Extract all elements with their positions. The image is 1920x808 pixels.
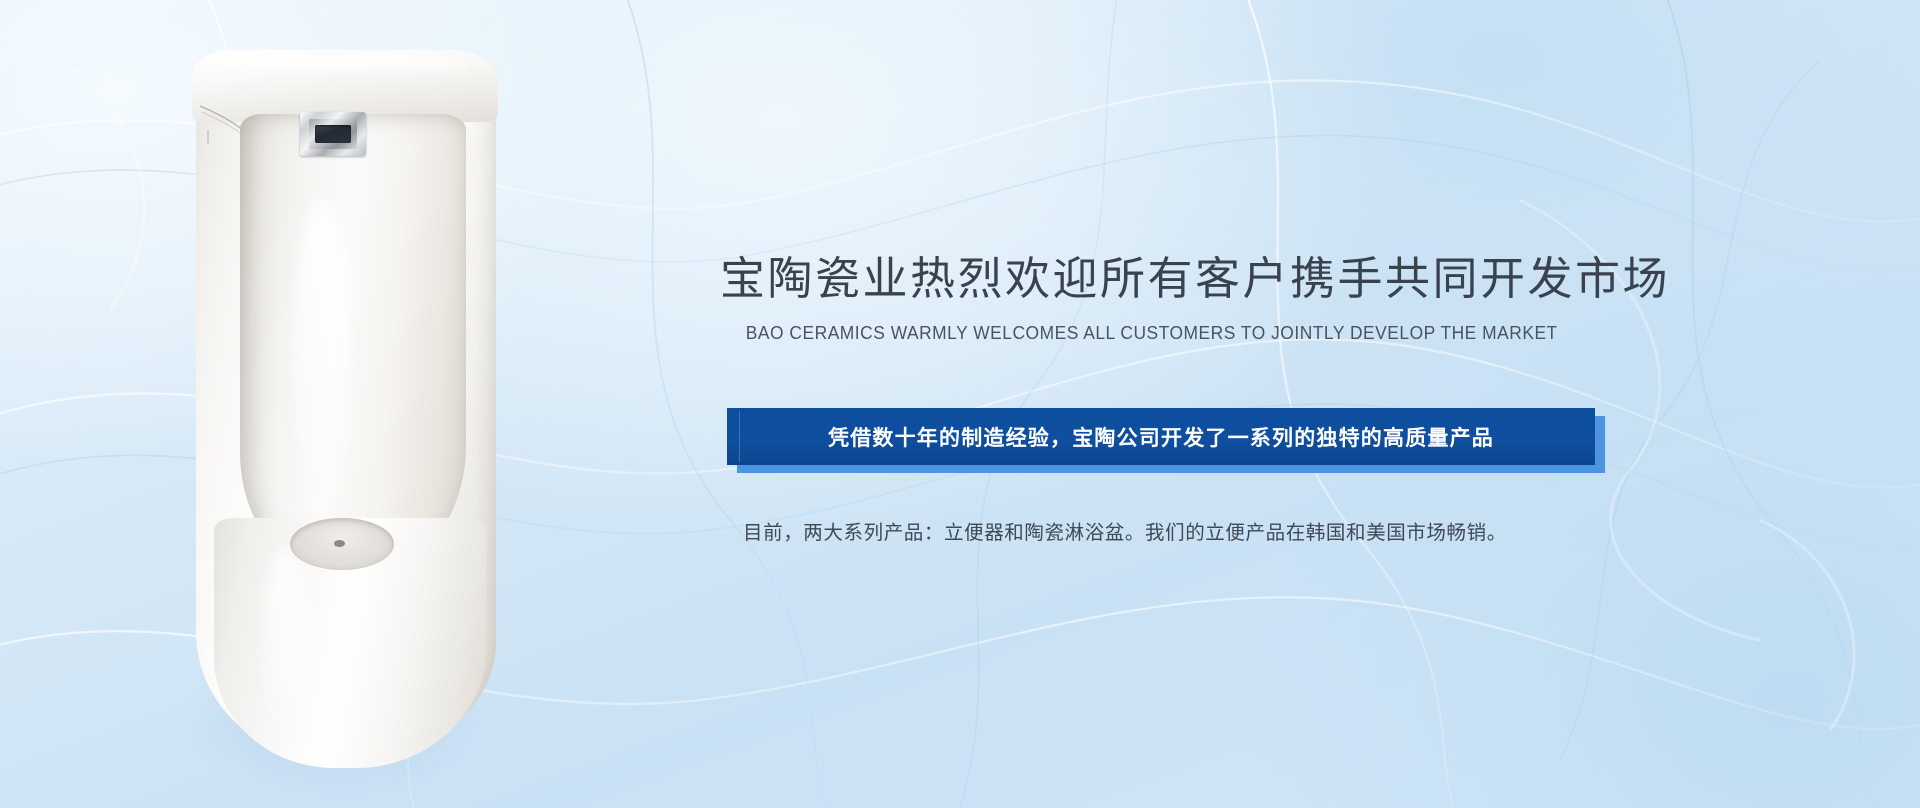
page-subtitle: BAO CERAMICS WARMLY WELCOMES ALL CUSTOME… [746, 322, 1554, 344]
highlight-banner: 凭借数十年的制造经验，宝陶公司开发了一系列的独特的高质量产品 [727, 408, 1607, 480]
banner-text: 凭借数十年的制造经验，宝陶公司开发了一系列的独特的高质量产品 [828, 422, 1494, 452]
page-title: 宝陶瓷业热烈欢迎所有客户携手共同开发市场 [720, 252, 1580, 305]
product-bowl-cavity [240, 114, 466, 584]
hero-copy-block: 宝陶瓷业热烈欢迎所有客户携手共同开发市场 BAO CERAMICS WARMLY… [600, 0, 1920, 808]
product-drain-hole [334, 540, 345, 547]
banner-foreground: 凭借数十年的制造经验，宝陶公司开发了一系列的独特的高质量产品 [727, 408, 1595, 465]
banner-accent-rule [739, 411, 740, 462]
sensor-window-icon [315, 125, 351, 143]
hero-banner: 宝陶瓷业热烈欢迎所有客户携手共同开发市场 BAO CERAMICS WARMLY… [0, 0, 1920, 808]
hero-description: 目前，两大系列产品：立便器和陶瓷淋浴盆。我们的立便产品在韩国和美国市场畅销。 [743, 516, 1507, 545]
product-top-highlight [220, 56, 470, 76]
product-photo-urinal [168, 48, 524, 778]
product-bowl-highlight [294, 198, 350, 528]
product-apron-highlight [264, 548, 308, 748]
